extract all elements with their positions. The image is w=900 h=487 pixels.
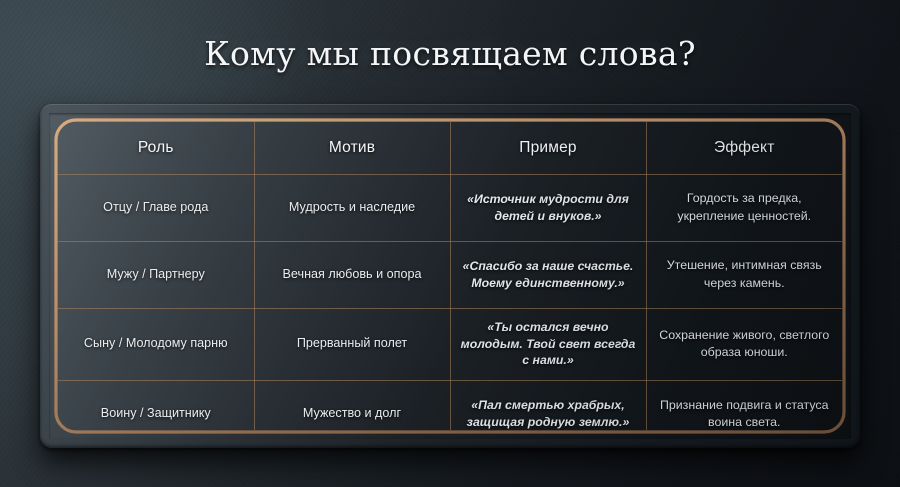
page-title: Кому мы посвящаем слова? — [0, 34, 900, 73]
cell-example: «Источник мудрости для детей и внуков.» — [450, 174, 646, 241]
cell-role: Отцу / Главе рода — [58, 174, 254, 241]
cell-effect: Сохранение живого, светлого образа юноши… — [646, 308, 842, 380]
table-head: Роль Мотив Пример Эффект — [58, 122, 842, 174]
cell-effect: Гордость за предка, укрепление ценностей… — [646, 174, 842, 241]
column-header-example: Пример — [450, 122, 646, 174]
cell-motive: Мужество и долг — [254, 380, 450, 430]
column-header-role: Роль — [58, 122, 254, 174]
table-body: Отцу / Главе рода Мудрость и наследие «И… — [58, 174, 842, 430]
cell-example: «Спасибо за наше счастье. Моему единстве… — [450, 241, 646, 308]
cell-role: Воину / Защитнику — [58, 380, 254, 430]
cell-role: Мужу / Партнеру — [58, 241, 254, 308]
cell-effect: Признание подвига и статуса воина света. — [646, 380, 842, 430]
cell-example: «Ты остался вечно молодым. Твой свет все… — [450, 308, 646, 380]
cell-effect: Утешение, интимная связь через камень. — [646, 241, 842, 308]
dedication-table: Роль Мотив Пример Эффект Отцу / Главе ро… — [58, 122, 842, 430]
table-row: Сыну / Молодому парню Прерванный полет «… — [58, 308, 842, 380]
column-header-effect: Эффект — [646, 122, 842, 174]
table-plaque: Роль Мотив Пример Эффект Отцу / Главе ро… — [40, 104, 860, 448]
table-row: Воину / Защитнику Мужество и долг «Пал с… — [58, 380, 842, 430]
table-header-row: Роль Мотив Пример Эффект — [58, 122, 842, 174]
table-container: Роль Мотив Пример Эффект Отцу / Главе ро… — [58, 122, 842, 430]
cell-motive: Прерванный полет — [254, 308, 450, 380]
table-row: Мужу / Партнеру Вечная любовь и опора «С… — [58, 241, 842, 308]
table-row: Отцу / Главе рода Мудрость и наследие «И… — [58, 174, 842, 241]
column-header-motive: Мотив — [254, 122, 450, 174]
cell-role: Сыну / Молодому парню — [58, 308, 254, 380]
cell-motive: Мудрость и наследие — [254, 174, 450, 241]
cell-motive: Вечная любовь и опора — [254, 241, 450, 308]
plaque-inner-frame: Роль Мотив Пример Эффект Отцу / Главе ро… — [49, 113, 851, 439]
cell-example: «Пал смертью храбрых, защищая родную зем… — [450, 380, 646, 430]
